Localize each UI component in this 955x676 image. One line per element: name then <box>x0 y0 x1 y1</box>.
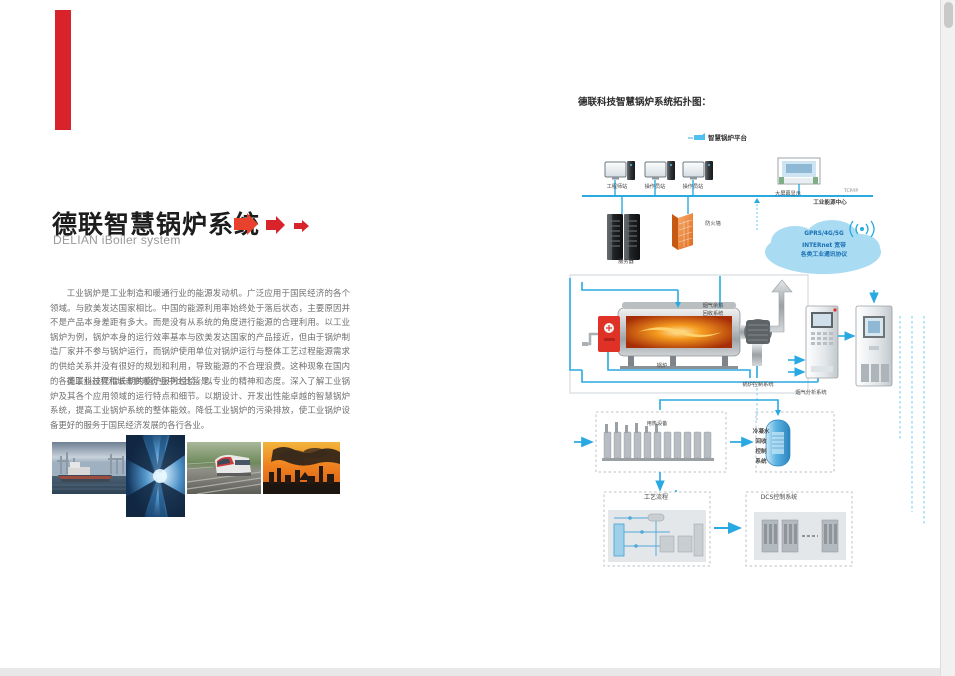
label-boiler: 锅炉 <box>650 362 674 369</box>
label-cloud-internet: INTERnet 宽带 <box>788 240 860 249</box>
label-tcp-ip-protocol: TCP/IP <box>838 189 864 194</box>
document-page: 德联智慧锅炉系统 DELIAN iBoiler system 工业锅炉是工业制造… <box>0 0 941 668</box>
label-condensate-line3: 控制 <box>748 447 774 455</box>
label-big-screen-display: 大屏幕显示 <box>768 190 808 197</box>
label-condensate-line1: 冷凝水 <box>748 427 774 435</box>
diagram-title: 德联科技智慧锅炉系统拓扑图： <box>578 94 711 108</box>
power-plant-smokestacks-photo <box>263 442 340 494</box>
glass-skyscraper-photo <box>126 435 185 517</box>
label-heat-recovery-line1: 烟气余热 <box>696 302 730 309</box>
intro-paragraph-1: 工业锅炉是工业制造和暖通行业的能源发动机。广泛应用于国民经济的各个领域。与欧美发… <box>50 286 350 388</box>
label-industrial-energy-center: 工业能源中心 <box>800 198 860 206</box>
label-dcs-control-system: DCS控制系统 <box>748 492 810 501</box>
label-gas-analysis-system: 烟气分析系统 <box>785 389 837 396</box>
label-condensate-line4: 系统 <box>748 457 774 465</box>
label-condensate-line2: 回收 <box>748 437 774 445</box>
label-heat-using-equipment: 用热设备 <box>640 420 674 427</box>
page-title-en: DELIAN iBoiler system <box>53 233 181 247</box>
label-operator-station-2: 操作员站 <box>678 183 708 190</box>
label-server: 服务器 <box>608 258 644 265</box>
label-firewall: 防火墙 <box>698 220 728 227</box>
vertical-scrollbar[interactable] <box>940 0 955 676</box>
high-speed-train-photo <box>187 442 261 494</box>
red-accent-bar <box>55 10 71 130</box>
label-heat-recovery-line2: 回收系统 <box>696 310 730 317</box>
label-cloud-protocols: 各类工业通讯协议 <box>788 249 860 258</box>
intro-paragraph-2: 德联科技凭借长期的锅炉服务经验。以专业的精神和态度。深入了解工业锅炉及其各个应用… <box>50 374 350 432</box>
label-engineer-station: 工程师站 <box>602 183 632 190</box>
ship-port-photo <box>52 442 128 494</box>
label-cloud-network-type: GPRS/4G/5G <box>788 231 860 237</box>
label-boiler-control-system: 锅炉控制系统 <box>732 381 784 388</box>
label-process-flow: 工艺流程 <box>636 492 676 501</box>
label-operator-station-1: 操作员站 <box>640 183 670 190</box>
scrollbar-thumb[interactable] <box>944 2 953 28</box>
arrow-decoration-icon <box>232 212 312 238</box>
